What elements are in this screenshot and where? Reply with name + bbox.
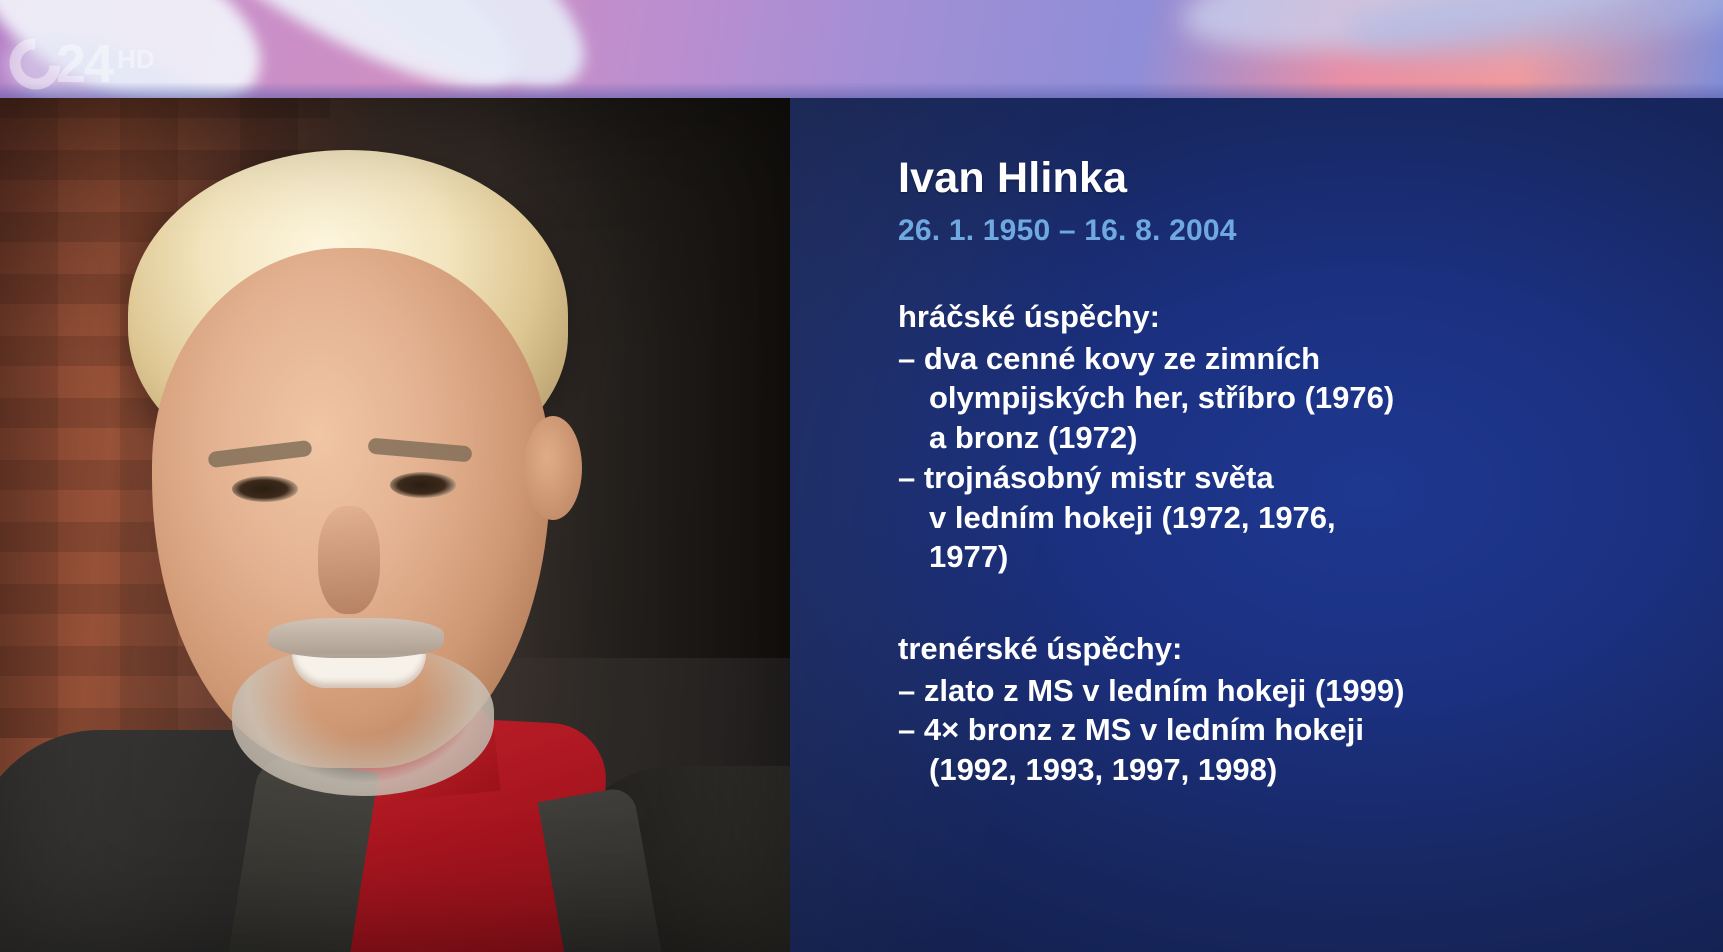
banner-bottom-shade [0,82,1723,98]
banner-streak [1337,0,1723,72]
portrait-photo [0,98,790,952]
section-title: trenérské úspěchy: [898,629,1713,669]
achievement-item: – trojnásobný mistr světa v ledním hokej… [898,458,1713,577]
section-player-achievements: hráčské úspěchy: – dva cenné kovy ze zim… [898,297,1713,577]
info-panel-content: Ivan Hlinka 26. 1. 1950 – 16. 8. 2004 hr… [898,156,1713,790]
info-panel: Ivan Hlinka 26. 1. 1950 – 16. 8. 2004 hr… [790,98,1723,952]
achievement-item: – 4× bronz z MS v ledním hokeji (1992, 1… [898,710,1713,789]
section-gap [898,577,1713,629]
person-lifespan: 26. 1. 1950 – 16. 8. 2004 [898,213,1713,249]
section-title: hráčské úspěchy: [898,297,1713,337]
person-name: Ivan Hlinka [898,156,1713,201]
achievement-item: – dva cenné kovy ze zimních olympijských… [898,339,1713,458]
broadcast-top-banner: 24 HD [0,0,1723,98]
achievement-item: – zlato z MS v ledním hokeji (1999) [898,671,1713,711]
photo-vignette [0,98,790,952]
broadcast-graphic-screen: 24 HD Ivan Hlinka 26. 1. 1950 – 16. 8. 2… [0,0,1723,952]
section-coaching-achievements: trenérské úspěchy: – zlato z MS v ledním… [898,629,1713,790]
